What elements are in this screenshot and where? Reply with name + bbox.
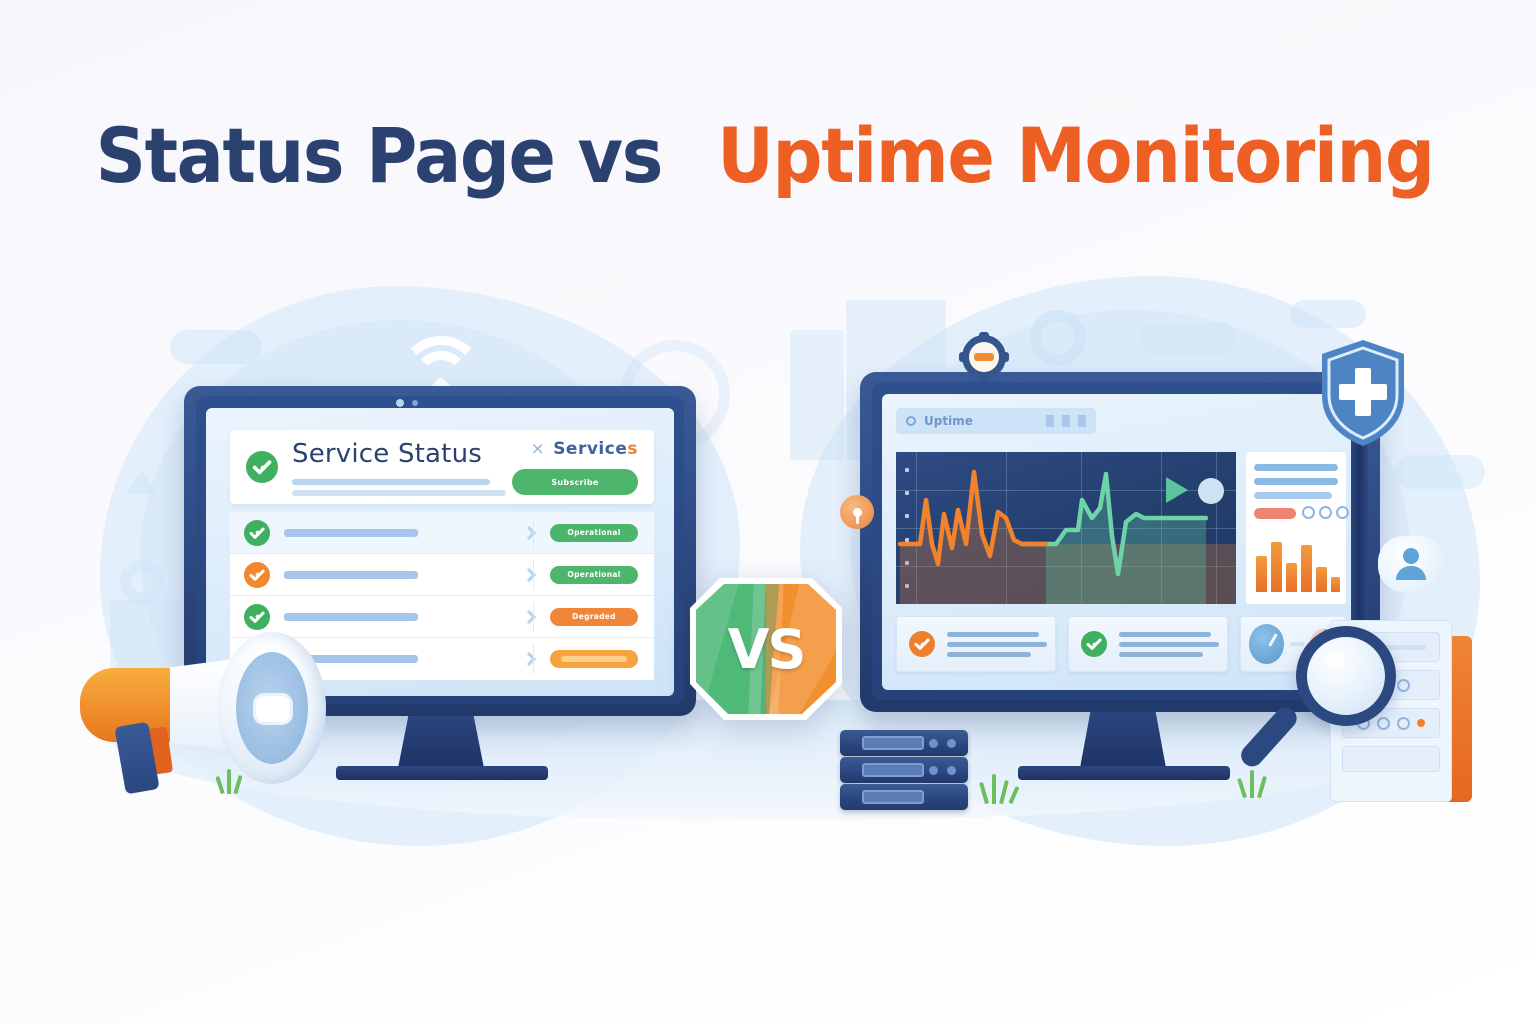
metrics-side-panel	[1246, 452, 1346, 604]
service-status-header: Service Status ×Services Subscribe	[230, 430, 654, 504]
gear-icon	[962, 335, 1006, 379]
kpi-text-lines	[1119, 632, 1219, 657]
header-text-bar-2	[292, 490, 506, 496]
server-unit	[840, 730, 968, 756]
right-monitor-stand-base	[1018, 766, 1230, 780]
building-decoration-3	[790, 330, 844, 460]
gear-decoration-1	[1030, 310, 1086, 366]
table-row[interactable]: Operational	[230, 554, 654, 596]
alert-pill	[1254, 508, 1296, 519]
row-divider	[533, 560, 534, 590]
gear-decoration-3	[120, 560, 164, 604]
kpi-card[interactable]	[1068, 616, 1228, 672]
brand-suffix: s	[627, 439, 638, 459]
uptime-chart	[896, 452, 1236, 604]
left-monitor-stand-neck	[398, 716, 484, 768]
brand-label: ×Services	[506, 439, 638, 459]
grass-decoration-1	[982, 770, 1026, 804]
row-divider	[533, 518, 534, 548]
ring-indicators	[1302, 506, 1349, 519]
check-circle-icon	[1081, 631, 1107, 657]
shield-check-icon	[1318, 338, 1408, 448]
check-circle-icon	[909, 631, 935, 657]
illustration-canvas: Service Status ×Services Subscribe	[0, 0, 1536, 1024]
circle-icon	[906, 416, 916, 426]
status-badge	[550, 650, 638, 668]
server-unit	[840, 784, 968, 810]
magnifier-icon	[1296, 626, 1396, 726]
cloud-decoration-4	[1290, 300, 1366, 328]
chart-series-svg	[896, 452, 1236, 604]
status-badge: Operational	[550, 524, 638, 542]
grass-decoration-2	[1240, 764, 1280, 798]
hourly-bar-chart	[1256, 530, 1340, 592]
side-panel-line	[1254, 464, 1338, 471]
page-heading-part-0: Status Page vs	[95, 118, 661, 194]
gauge-icon	[1249, 624, 1284, 664]
status-badge: Operational	[550, 566, 638, 584]
page-title: Service Status	[292, 439, 506, 469]
subscribe-button[interactable]: Subscribe	[512, 469, 638, 495]
side-panel-line	[1254, 478, 1338, 485]
left-monitor-camera	[396, 399, 404, 407]
row-divider	[533, 602, 534, 632]
server-unit	[840, 757, 968, 783]
left-monitor-led	[412, 400, 418, 406]
lock-icon	[840, 495, 874, 529]
kpi-text-lines	[947, 632, 1047, 657]
status-badge-fill	[561, 656, 628, 662]
cloud-decoration-5	[1395, 455, 1485, 489]
kpi-card[interactable]	[896, 616, 1056, 672]
close-icon: ×	[530, 439, 545, 459]
star-decoration-1	[126, 470, 158, 494]
megaphone-center	[256, 696, 290, 722]
vs-badge: VS	[684, 572, 848, 726]
play-icon	[1166, 477, 1188, 503]
status-badge: Degraded	[550, 608, 638, 626]
check-circle-icon	[244, 520, 270, 546]
side-panel-line	[1254, 492, 1332, 499]
page-heading-part-1: Uptime Monitoring	[718, 118, 1434, 194]
service-name-bar	[284, 529, 418, 537]
cloud-decoration-1	[170, 330, 262, 364]
monitoring-topbar: Uptime	[896, 408, 1096, 434]
left-monitor-stand-base	[336, 766, 548, 780]
megaphone-icon	[70, 620, 330, 800]
header-text-bar-1	[292, 479, 490, 485]
check-circle-icon	[244, 562, 270, 588]
check-circle-icon	[246, 451, 278, 483]
page-heading: Status Page vs Uptime Monitoring	[0, 118, 1536, 194]
cloud-decoration-3	[1140, 322, 1236, 354]
right-monitor-stand-neck	[1080, 712, 1166, 768]
rack-row	[1342, 746, 1440, 772]
circle-icon	[1198, 478, 1224, 504]
topbar-label: Uptime	[924, 414, 973, 428]
user-icon	[1378, 536, 1444, 592]
vs-label: VS	[684, 572, 848, 726]
row-divider	[533, 644, 534, 674]
brand-name: Service	[553, 439, 627, 459]
service-name-bar	[284, 571, 418, 579]
right-monitor-screen: Uptime	[882, 394, 1358, 690]
table-row[interactable]: Operational	[230, 512, 654, 554]
